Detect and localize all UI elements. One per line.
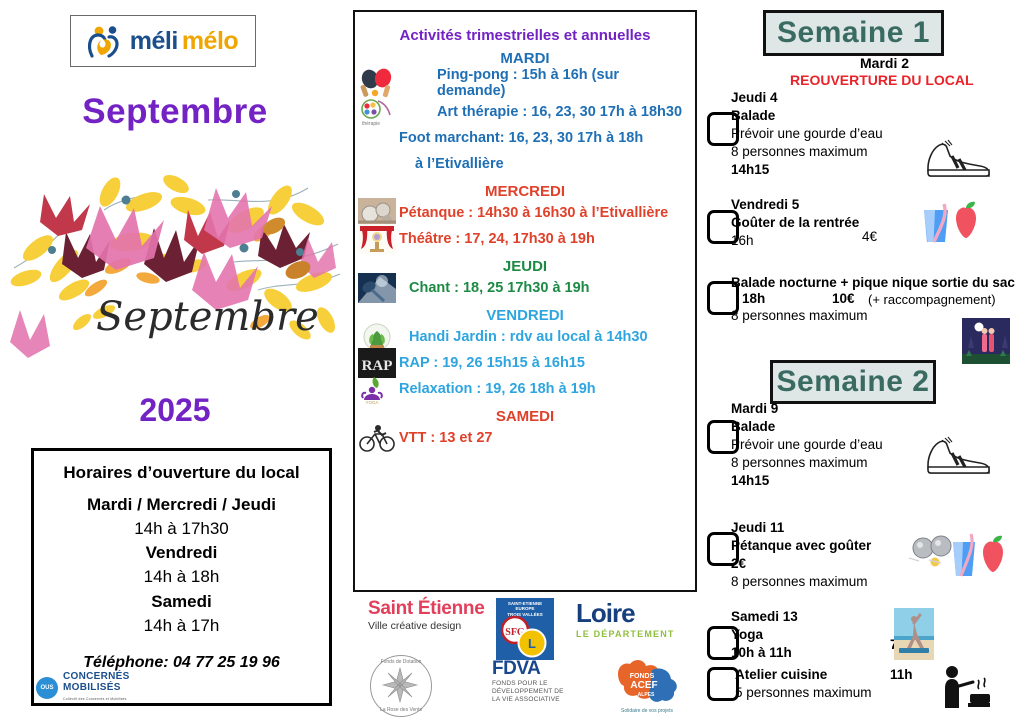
activity-text: Ping-pong : 15h à 16h (sur demande) bbox=[437, 67, 691, 99]
day-heading: VENDREDI bbox=[355, 307, 695, 324]
activity-text: Art thérapie : 16, 23, 30 17h à 18h30 bbox=[437, 104, 682, 120]
activity-row: Chant : 18, 25 17h30 à 19h bbox=[355, 275, 695, 301]
acef-logo: FONDS ACEF ALPES Solidaire de vos projet… bbox=[612, 660, 682, 706]
fdva-logo: FDVA FONDS POUR LE DÉVELOPPEMENT DE LA V… bbox=[492, 658, 572, 704]
melimelo-logo: méli mélo bbox=[70, 15, 256, 67]
art-therapy-icon: thérapie bbox=[358, 97, 396, 127]
phone-number: Téléphone: 04 77 25 19 96 bbox=[34, 654, 329, 672]
activity-row: Théâtre : 17, 24, 17h30 à 19h bbox=[355, 226, 695, 252]
saint-etienne-name: Saint Étienne bbox=[368, 598, 484, 620]
activities-list: MARDIPing-pong : 15h à 16h (sur demande)… bbox=[355, 50, 695, 451]
day-heading: JEUDI bbox=[355, 258, 695, 275]
svg-text:ACEF: ACEF bbox=[630, 680, 657, 691]
activity-row: à l’Etivallière bbox=[355, 151, 695, 177]
event-title: Pétanque avec goûter bbox=[731, 537, 871, 555]
week1-intro-note: REOUVERTURE DU LOCAL bbox=[790, 72, 974, 88]
fonds-line1: Fonds de Dotation bbox=[371, 659, 431, 665]
loire-departement-logo: Loire LE DÉPARTEMENT bbox=[576, 598, 675, 639]
logo-text-meli: méli bbox=[130, 27, 178, 56]
snack-apple-juice-icon bbox=[920, 198, 982, 251]
event-note-1: Prévoir une gourde d’eau bbox=[731, 436, 883, 454]
activity-text: Théâtre : 17, 24, 17h30 à 19h bbox=[399, 231, 595, 247]
event-time: 10h à 11h bbox=[731, 644, 798, 662]
event-title: Yoga bbox=[731, 626, 798, 644]
ping-pong-icon bbox=[358, 68, 396, 98]
activity-row: VTT : 13 et 27 bbox=[355, 425, 695, 451]
yoga-beach-icon bbox=[894, 608, 934, 665]
event-note-1: Prévoir une gourde d’eau bbox=[731, 125, 883, 143]
event-date: Mardi 9 bbox=[731, 400, 883, 418]
activity-row: Foot marchant: 16, 23, 30 17h à 18h bbox=[355, 125, 695, 151]
opening-hours-line: Mardi / Mercredi / Jeudi bbox=[34, 493, 329, 517]
cooking-icon bbox=[940, 664, 990, 715]
activity-text: à l’Etivallière bbox=[415, 156, 504, 172]
event-extra-w1-nocturne: (+ raccompagnement) bbox=[868, 292, 996, 307]
fonds-rose-des-vents-logo: Fonds de Dotation La Rose des Vents bbox=[370, 655, 432, 717]
people-heart-icon bbox=[88, 24, 126, 58]
event-time-w1-nocturne: 18h bbox=[742, 291, 765, 306]
page-title-year: 2025 bbox=[0, 392, 350, 429]
event-note-w1-nocturne: 8 personnes maximum bbox=[731, 308, 868, 323]
concernes-mobilises-logo: OUS CONCERNÉS MOBILISÉS Collectif des Co… bbox=[36, 672, 130, 704]
lions-club-logo: SAINT-ETIENNE EUROPE TROIS VALLÉES SFG L bbox=[496, 598, 554, 660]
cm-sub: Collectif des Concernés et Mobilisés bbox=[63, 697, 127, 701]
event-title: Balade nocturne + pique nique sortie du … bbox=[731, 274, 1015, 292]
week1-intro-day: Mardi 2 bbox=[860, 55, 909, 71]
acef-tag: Solidaire de vos projets bbox=[612, 708, 682, 714]
event-note-1: 8 personnes maximum bbox=[731, 573, 871, 591]
event-time: 14h15 bbox=[731, 161, 883, 179]
bike-icon bbox=[358, 423, 396, 453]
activity-text: Foot marchant: 16, 23, 30 17h à 18h bbox=[399, 130, 643, 146]
saint-etienne-sub: Ville créative design bbox=[368, 620, 484, 632]
cm-line2: MOBILISÉS bbox=[63, 682, 121, 693]
opening-hours-list: Mardi / Mercredi / Jeudi14h à 17h30Vendr… bbox=[34, 493, 329, 638]
event-title: Atelier cuisine bbox=[735, 666, 872, 684]
floral-script-text: Septembre bbox=[96, 294, 319, 340]
sneaker-icon bbox=[922, 138, 992, 183]
activity-row: thérapieArt thérapie : 16, 23, 30 17h à … bbox=[355, 99, 695, 125]
event-time: 14h15 bbox=[731, 472, 883, 490]
event-time-w2-cuisine: 11h bbox=[890, 667, 913, 682]
event-note-1: 5 personnes maximum bbox=[735, 684, 872, 702]
activity-row: Handi Jardin : rdv au local à 14h30 bbox=[355, 324, 695, 350]
activity-text: VTT : 13 et 27 bbox=[399, 430, 492, 446]
event-w2-mardi9: Mardi 9 Balade Prévoir une gourde d’eau … bbox=[731, 400, 883, 490]
opening-hours-line: Vendredi bbox=[34, 541, 329, 565]
activity-text: Handi Jardin : rdv au local à 14h30 bbox=[409, 329, 648, 345]
loire-name: Loire bbox=[576, 598, 675, 629]
event-note-2: 8 personnes maximum bbox=[731, 454, 883, 472]
opening-hours-line: Samedi bbox=[34, 590, 329, 614]
theatre-icon bbox=[358, 224, 396, 254]
petanque-snack-icon bbox=[905, 528, 1015, 589]
chant-icon bbox=[358, 273, 396, 303]
loire-sub: LE DÉPARTEMENT bbox=[576, 629, 675, 639]
opening-hours-title: Horaires d’ouverture du local bbox=[34, 463, 329, 483]
event-date: Vendredi 5 bbox=[731, 196, 859, 214]
sneaker-icon bbox=[922, 435, 992, 480]
activity-row: RAPRAP : 19, 26 15h15 à 16h15 bbox=[355, 350, 695, 376]
week1-header: Semaine 1 bbox=[763, 10, 944, 56]
week2-header: Semaine 2 bbox=[770, 360, 936, 404]
floral-banner-image: Septembre bbox=[8, 170, 343, 360]
activity-text: RAP : 19, 26 15h15 à 16h15 bbox=[399, 355, 585, 371]
page-title-month: Septembre bbox=[0, 92, 350, 132]
event-w1-balade-nocturne: Balade nocturne + pique nique sortie du … bbox=[731, 274, 1015, 292]
event-price: 2€ bbox=[731, 555, 871, 573]
event-title: Balade bbox=[731, 418, 883, 436]
opening-hours-box: Horaires d’ouverture du local Mardi / Me… bbox=[31, 448, 332, 706]
event-price-w1-nocturne: 10€ bbox=[832, 291, 855, 306]
event-w1-vendredi5: Vendredi 5 Goûter de la rentrée 16h bbox=[731, 196, 859, 250]
activity-row: YOGARelaxation : 19, 26 18h à 19h bbox=[355, 376, 695, 402]
svg-text:ALPES: ALPES bbox=[638, 692, 655, 698]
cm-logo-text: CONCERNÉS MOBILISÉS Collectif des Concer… bbox=[63, 672, 130, 704]
opening-hours-line: 14h à 17h bbox=[34, 614, 329, 638]
activities-panel: Activités trimestrielles et annuelles MA… bbox=[353, 10, 697, 592]
event-date: Samedi 13 bbox=[731, 608, 798, 626]
cm-line1: CONCERNÉS bbox=[63, 671, 130, 682]
saint-etienne-logo: Saint Étienne Ville créative design bbox=[368, 598, 484, 632]
day-heading: SAMEDI bbox=[355, 408, 695, 425]
event-title: Goûter de la rentrée bbox=[731, 214, 859, 232]
night-walk-icon bbox=[962, 318, 1010, 369]
cm-badge-icon: OUS bbox=[36, 677, 58, 699]
activity-text: Relaxation : 19, 26 18h à 19h bbox=[399, 381, 596, 397]
svg-text:FONDS: FONDS bbox=[630, 673, 655, 680]
fdva-sub: FONDS POUR LE DÉVELOPPEMENT DE LA VIE AS… bbox=[492, 680, 572, 704]
day-heading: MARDI bbox=[355, 50, 695, 67]
opening-hours-line: 14h à 18h bbox=[34, 565, 329, 589]
activities-title: Activités trimestrielles et annuelles bbox=[355, 27, 695, 44]
fonds-line2: La Rose des Vents bbox=[371, 707, 431, 713]
svg-text:YOGA: YOGA bbox=[365, 400, 378, 404]
fdva-name: FDVA bbox=[492, 658, 572, 680]
event-title: Balade bbox=[731, 107, 883, 125]
activity-text: Pétanque : 14h30 à 16h30 à l’Etivallière bbox=[399, 205, 668, 221]
yoga-relax-icon: YOGA bbox=[358, 374, 396, 404]
day-heading: MERCREDI bbox=[355, 183, 695, 200]
activity-row: Pétanque : 14h30 à 16h30 à l’Etivallière bbox=[355, 200, 695, 226]
svg-text:L: L bbox=[528, 636, 536, 651]
logo-text-melo: mélo bbox=[182, 27, 238, 56]
event-date: Jeudi 11 bbox=[731, 519, 871, 537]
svg-text:RAP: RAP bbox=[362, 358, 393, 374]
activity-row: Ping-pong : 15h à 16h (sur demande) bbox=[355, 67, 695, 99]
event-note-2: 8 personnes maximum bbox=[731, 143, 883, 161]
event-w2-samedi13: Samedi 13 Yoga 10h à 11h bbox=[731, 608, 798, 662]
activity-text: Chant : 18, 25 17h30 à 19h bbox=[409, 280, 590, 296]
event-w2-atelier-cuisine: Atelier cuisine 5 personnes maximum bbox=[735, 666, 872, 702]
event-date: Jeudi 4 bbox=[731, 89, 883, 107]
opening-hours-line: 14h à 17h30 bbox=[34, 517, 329, 541]
event-time: 16h bbox=[731, 232, 859, 250]
event-w1-jeudi4: Jeudi 4 Balade Prévoir une gourde d’eau … bbox=[731, 89, 883, 179]
event-price-w1-vendredi5: 4€ bbox=[862, 229, 877, 244]
event-w2-jeudi11: Jeudi 11 Pétanque avec goûter 2€ 8 perso… bbox=[731, 519, 871, 591]
